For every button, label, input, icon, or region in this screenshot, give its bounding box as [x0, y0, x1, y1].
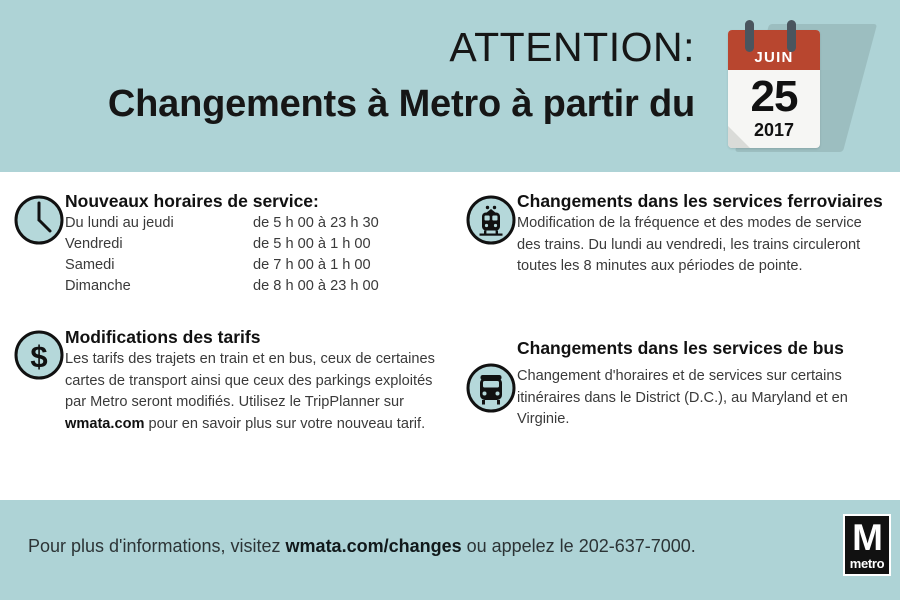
metro-logo-icon: M metro — [843, 514, 891, 576]
metro-logo-letter: M — [852, 519, 882, 556]
schedule-time: de 7 h 00 à 1 h 00 — [253, 255, 379, 276]
header-banner: ATTENTION: Changements à Metro à partir … — [0, 0, 900, 172]
footer-text-after: ou appelez le 202-637-7000. — [462, 536, 696, 556]
schedule-day: Du lundi au jeudi — [65, 213, 253, 234]
fares-text-before: Les tarifs des trajets en train et en bu… — [65, 351, 435, 410]
page-title-main: Changements à Metro à partir du — [40, 78, 695, 130]
footer-text-before: Pour plus d'informations, visitez — [28, 536, 286, 556]
section-fares-title: Modifications des tarifs — [65, 326, 443, 348]
left-column: Nouveaux horaires de service: Du lundi a… — [0, 172, 455, 500]
table-row: Dimanche de 8 h 00 à 23 h 00 — [65, 276, 379, 297]
infographic-poster: ATTENTION: Changements à Metro à partir … — [0, 0, 900, 600]
bus-icon — [465, 362, 517, 414]
header-title-block: ATTENTION: Changements à Metro à partir … — [40, 22, 695, 130]
dollar-icon: $ — [13, 329, 65, 381]
schedule-rows: Du lundi au jeudi de 5 h 00 à 23 h 30 Ve… — [65, 213, 379, 297]
metro-logo-word: metro — [850, 557, 885, 571]
footer-info-text: Pour plus d'informations, visitez wmata.… — [28, 536, 696, 557]
schedule-time: de 5 h 00 à 23 h 30 — [253, 213, 379, 234]
schedule-time: de 5 h 00 à 1 h 00 — [253, 234, 379, 255]
schedule-time: de 8 h 00 à 23 h 00 — [253, 276, 379, 297]
right-column: Changements dans les services ferroviair… — [455, 172, 900, 500]
section-rail-title: Changements dans les services ferroviair… — [517, 190, 885, 212]
schedule-day: Dimanche — [65, 276, 253, 297]
svg-text:$: $ — [30, 339, 47, 374]
train-icon — [465, 194, 517, 246]
footer-link[interactable]: wmata.com/changes — [286, 536, 462, 556]
calendar-icon: JUIN 25 2017 — [722, 18, 844, 152]
section-fares-text: Les tarifs des trajets en train et en bu… — [65, 349, 443, 435]
calendar-body: JUIN 25 2017 — [728, 30, 820, 148]
table-row: Samedi de 7 h 00 à 1 h 00 — [65, 255, 379, 276]
page-title-attention: ATTENTION: — [40, 22, 695, 72]
section-bus-text: Changement d'horaires et de services sur… — [517, 366, 885, 431]
schedule-table: Du lundi au jeudi de 5 h 00 à 23 h 30 Ve… — [65, 213, 379, 297]
table-row: Du lundi au jeudi de 5 h 00 à 23 h 30 — [65, 213, 379, 234]
calendar-day: 25 — [728, 74, 820, 120]
fares-text-after: pour en savoir plus sur votre nouveau ta… — [144, 416, 425, 432]
section-rail-text: Modification de la fréquence et des mode… — [517, 213, 885, 278]
calendar-pin-left — [745, 20, 754, 52]
body-content: Nouveaux horaires de service: Du lundi a… — [0, 172, 900, 500]
schedule-day: Vendredi — [65, 234, 253, 255]
calendar-month: JUIN — [728, 30, 820, 70]
fares-link[interactable]: wmata.com — [65, 416, 144, 432]
section-bus-title: Changements dans les services de bus — [517, 337, 885, 359]
section-hours-title: Nouveaux horaires de service: — [65, 190, 443, 212]
calendar-pin-right — [787, 20, 796, 52]
footer-banner: Pour plus d'informations, visitez wmata.… — [0, 500, 900, 600]
table-row: Vendredi de 5 h 00 à 1 h 00 — [65, 234, 379, 255]
calendar-year: 2017 — [728, 119, 820, 141]
clock-icon — [13, 194, 65, 246]
schedule-day: Samedi — [65, 255, 253, 276]
